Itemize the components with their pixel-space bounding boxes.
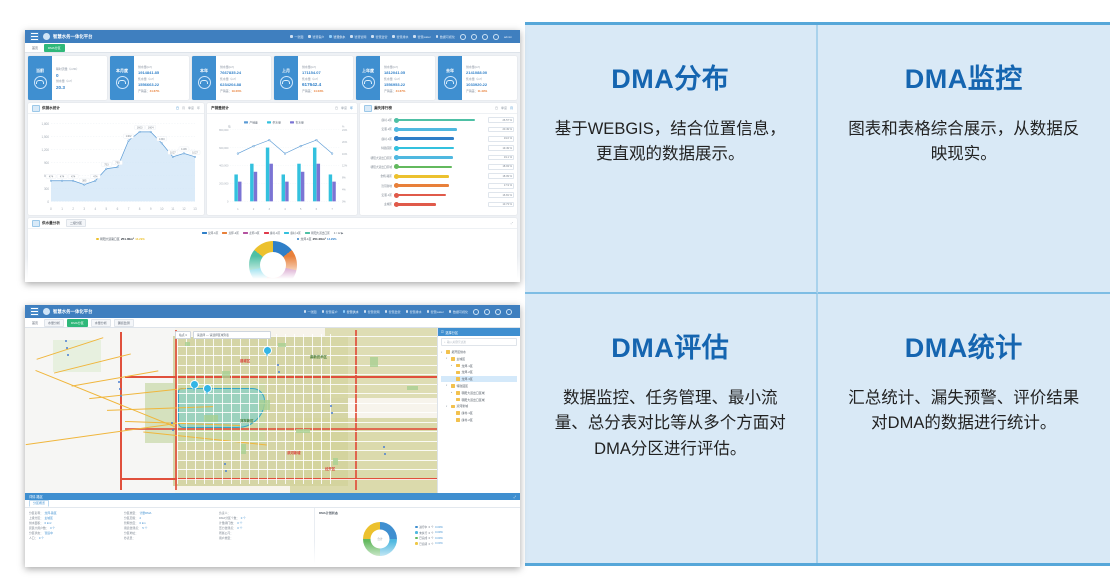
nav-item-智慧water[interactable]: 智慧water (427, 310, 444, 314)
detail-field-grid: 分区名称：龙师-路区分区类型：计量DMA负责人：上级分区：主城区分区层级：2DM… (25, 508, 315, 567)
zone-tree-node[interactable]: 康村-2区 (441, 417, 517, 423)
detail-field-value: 0 个 (241, 516, 246, 520)
leak-bar-fill (394, 156, 453, 159)
leak-bar-fill (394, 203, 436, 206)
legend-label: 进行中 (419, 525, 427, 529)
menu-icon[interactable] (30, 32, 39, 41)
dashboard-appbar: 智慧水务一体化平台 一张图智慧客户智慧供水智慧管网智慧监管智慧排水智慧water… (25, 30, 520, 43)
leak-bar-fill (394, 119, 475, 122)
zone-tree-node[interactable]: ▾滨河新城 (441, 403, 517, 409)
feature-title: DMA分布 (611, 65, 729, 95)
bell-icon[interactable] (471, 34, 477, 40)
leak-bar-knob (394, 174, 399, 179)
legend-swatch (305, 232, 310, 235)
leak-zone-name: 康村-1区 (363, 137, 392, 141)
leak-bar-track (394, 174, 486, 179)
panel-header: 供水量分析 二级分区 ⤢ (28, 218, 517, 229)
leak-value: 19.49 % (488, 145, 514, 151)
callout-dot (297, 238, 299, 240)
leak-value: 18.93 % (488, 164, 514, 170)
leak-rank-row: 康村-1区19.6 % (363, 135, 514, 143)
svg-text:2: 2 (253, 207, 255, 211)
svg-text:474: 474 (93, 174, 98, 178)
svg-text:吨: 吨 (228, 124, 231, 128)
legend-swatch (202, 232, 207, 235)
detail-field-label: 分区地址： (124, 531, 138, 535)
detail-field-label: 用户类型： (219, 536, 233, 540)
panel-leak-ranking: 漏失排行榜 日季度月 康村-2区26.57 %宏服-2区20.49 %康村-1区… (360, 103, 517, 215)
svg-text:9: 9 (150, 207, 152, 211)
svg-text:1603: 1603 (137, 125, 143, 129)
nav-item-智慧客户[interactable]: 智慧客户 (322, 310, 338, 314)
leak-zone-name: 宏服-2区 (363, 127, 392, 131)
detail-field: 上级分区：主城区 (29, 516, 120, 520)
detail-field: 供水面积：0 km² (29, 521, 120, 525)
leak-zone-name: 特勘园区 (363, 146, 392, 150)
legend-swatch (415, 531, 418, 534)
svg-text:1: 1 (237, 207, 239, 211)
fullscreen-icon[interactable] (495, 309, 501, 315)
detail-tabs[interactable]: 分区概览 (25, 500, 520, 508)
leak-bar-knob (394, 164, 399, 169)
zone-tree-node[interactable]: 龙师-2区 (441, 369, 517, 375)
dashboard-tabbar: 首页DMA分区 (25, 43, 520, 53)
svg-text:0: 0 (47, 200, 49, 204)
dma-plan-legend-row: 已完成0 个0.00% (415, 536, 443, 540)
zone-selector[interactable]: 二级分区 (66, 219, 86, 227)
svg-text:5: 5 (300, 207, 302, 211)
callout-percent: 14.29% (135, 237, 145, 241)
svg-text:售水量: 售水量 (296, 120, 304, 125)
kpi-period-label: 本年 (200, 68, 208, 74)
chart-row: 供销水统计 日月季度年 03006009001,2001,5001,800012… (28, 103, 517, 215)
panel-period-tools[interactable]: 日季度月 (495, 106, 513, 110)
nav-item-label: 数据可视化 (440, 35, 455, 39)
svg-text:1,800: 1,800 (42, 122, 50, 126)
kpi-metric-value: 1033920.22 (466, 82, 514, 87)
map-tabbar: 首页水量分析DMA分区水量分析漏损监测 (25, 318, 520, 328)
tab-水量分析[interactable]: 水量分析 (91, 319, 111, 327)
svg-text:5: 5 (106, 207, 108, 211)
leak-value: 18.09 % (488, 173, 514, 179)
leak-value: 26.57 % (488, 117, 514, 123)
zone-tree-node[interactable]: ▾特勘园区 (441, 383, 517, 389)
settings-icon[interactable] (473, 309, 479, 315)
period-toggle-年[interactable]: 年 (350, 106, 353, 110)
zone-tree-node[interactable]: ▾郑开区供水 (441, 349, 517, 355)
leak-bar-knob (394, 193, 399, 198)
nav-item-icon (406, 310, 409, 313)
map-control-select[interactable]: 站点 ▾ (175, 331, 191, 339)
svg-text:1027: 1027 (192, 150, 198, 154)
water-drop-icon (280, 76, 293, 89)
zone-tree-label: 滨河新城 (457, 404, 469, 408)
zone-tree-label: 特勘园区 (457, 384, 469, 388)
callout-value: 251.00m³ (337, 281, 350, 282)
kpi-metric-label: 供水量(m³) (138, 65, 186, 69)
bar-chart: 产销差供水量售水量0200,000400,000600,000800,0000%… (210, 117, 354, 214)
kpi-metric-value: 617642.4 (302, 82, 350, 87)
svg-text:0: 0 (227, 200, 229, 204)
period-toggle-季度[interactable]: 季度 (341, 106, 347, 110)
detail-field-label: 所属公司： (219, 531, 233, 535)
panel-period-tools[interactable]: 日季度年 (335, 106, 353, 110)
chevron-icon[interactable]: ▾ (446, 405, 449, 408)
kpi-values: 供水量(m³)2141088.00售水量（m³）1033920.22产销差：11… (462, 56, 517, 100)
leak-value: 20.49 % (488, 127, 514, 133)
svg-text:16%: 16% (342, 152, 348, 156)
leak-rank-row: 朝阳大道出口区区19.1 % (363, 154, 514, 162)
nav-item-智慧管网[interactable]: 智慧管网 (350, 35, 366, 39)
detail-field-value: 0 个 (237, 521, 242, 525)
folder-icon (451, 357, 456, 361)
dma-plan-status-card: DMA计划状态 合计 进行中0 个0.00%未执行0 个0.00%已完成0 个0… (315, 508, 520, 567)
feature-cell-dma-monitoring[interactable]: DMA监控 图表和表格综合展示，从数据反映现实。 (818, 25, 1110, 294)
leak-bar-track (394, 164, 486, 169)
folder-icon (456, 371, 461, 375)
leak-bar-fill (394, 166, 452, 169)
detail-content: 分区名称：龙师-路区分区类型：计量DMA负责人：上级分区：主城区分区层级：2DM… (25, 508, 520, 567)
panel-title: 供销水统计 (42, 106, 60, 111)
leak-rank-row: 滨河新地17.9 % (363, 182, 514, 190)
svg-text:6: 6 (117, 207, 119, 211)
map-nav: 一张图智慧客户智慧供水智慧管网智慧监管智慧排水智慧water数据可视化 (304, 309, 515, 315)
leak-bar-fill (394, 137, 454, 140)
svg-text:200,000: 200,000 (219, 182, 229, 186)
panel-actions[interactable]: ⤢ (511, 221, 513, 225)
nav-item-label: 智慧排水 (410, 310, 422, 314)
svg-text:1027: 1027 (170, 150, 176, 154)
fullscreen-icon[interactable] (482, 34, 488, 40)
nav-item-label: 智慧供水 (347, 310, 359, 314)
nav-item-icon (322, 310, 325, 313)
zone-tree-label: 康村-2区 (462, 418, 473, 422)
detail-field: 分区类型：计量DMA (124, 511, 215, 515)
map-control-select[interactable]: 请选择 — 请选择区域列表 (193, 331, 271, 339)
period-toggle-月[interactable]: 月 (182, 106, 185, 110)
feature-description: 基于WEBGIS，结合位置信息，更直观的数据展示。 (551, 117, 790, 168)
svg-text:8%: 8% (342, 176, 346, 180)
water-drop-icon (198, 76, 211, 89)
kpi-period-label: 本月度 (116, 68, 128, 74)
leak-bar-knob (394, 118, 399, 123)
nav-item-icon (427, 310, 430, 313)
svg-text:1106: 1106 (181, 147, 187, 151)
period-toggle-日[interactable]: 日 (176, 106, 179, 110)
nav-item-数据可视化[interactable]: 数据可视化 (436, 35, 455, 39)
nav-item-icon (436, 35, 439, 38)
kpi-metric-value: 6234204.88 (220, 82, 268, 87)
expand-icon[interactable]: ⤢ (513, 495, 516, 499)
nav-item-label: 一张图 (308, 310, 317, 314)
tab-漏损监测[interactable]: 漏损监测 (114, 319, 134, 327)
flow-callout: 龙师-3区251.00m³14.29% (321, 281, 361, 282)
nav-item-智慧监管[interactable]: 智慧监管 (385, 310, 401, 314)
kpi-values: 瞬时流量（m³/h）0供水量（m³）20.3 (52, 56, 107, 100)
svg-text:1340: 1340 (159, 137, 165, 141)
nav-item-智慧排水[interactable]: 智慧排水 (406, 310, 422, 314)
folder-icon (456, 418, 461, 422)
panel-period-tools[interactable]: 日月季度年 (176, 106, 200, 110)
svg-text:474: 474 (71, 174, 76, 178)
zone-tree-node[interactable]: 朝阳大道出口区域 (441, 397, 517, 403)
feature-title: DMA监控 (905, 65, 1023, 95)
map-pin-icon[interactable] (190, 380, 199, 391)
legend-label: 未执行 (419, 531, 427, 535)
nav-item-智慧供水[interactable]: 智慧供水 (343, 310, 359, 314)
detail-field-value: 龙师-路区 (45, 511, 57, 515)
svg-text:385: 385 (82, 178, 87, 182)
leak-bar-track (394, 136, 486, 141)
legend-label: 已逾期 (419, 542, 427, 546)
leak-rank-row: 朝阳大道出口区域18.93 % (363, 163, 514, 171)
detail-field: 抄表员： (124, 536, 215, 540)
detail-field-value: 0 个 (50, 526, 55, 530)
avatar[interactable] (493, 34, 499, 40)
period-toggle-日[interactable]: 日 (335, 106, 338, 110)
kpi-rate: 产销差：44.67% (384, 89, 432, 93)
map-screenshot: 智慧水务一体化平台 一张图智慧客户智慧供水智慧管网智慧监管智慧排水智慧water… (25, 305, 520, 567)
kpi-period-badge: 上月 (274, 56, 298, 100)
water-drop-icon (34, 76, 47, 89)
map-area-label: 经开区 (325, 466, 335, 471)
nav-item-icon (449, 310, 452, 313)
kpi-row: 当前瞬时流量（m³/h）0供水量（m³）20.3本月度供水量(m³)191484… (28, 56, 517, 100)
nav-item-智慧监管[interactable]: 智慧监管 (371, 35, 387, 39)
bell-icon[interactable] (484, 309, 490, 315)
kpi-period-badge: 本年 (192, 56, 216, 100)
leak-bar-knob (394, 183, 399, 188)
folder-icon (456, 377, 461, 381)
callout-percent: 14.29% (351, 281, 361, 282)
nav-item-智慧water[interactable]: 智慧water (413, 35, 430, 39)
leak-value: 16.81 % (488, 192, 514, 198)
detail-field-value: 2 (140, 516, 142, 520)
svg-text:4%: 4% (342, 188, 346, 192)
legend-percent: 0.00% (435, 526, 443, 529)
zone-tree-node[interactable]: ▸朝阳大道出口区域 (441, 390, 517, 396)
zone-tree-panel: ☑ 选择分区 ⌕ 输入关键字过滤 ▾郑开区供水▾主城区▸龙师-1区龙师-2区龙师… (437, 328, 520, 493)
kpi-metric-value: 20.3 (56, 85, 104, 90)
panel-title: 供水量分析 (42, 221, 60, 226)
nav-item-数据可视化[interactable]: 数据可视化 (449, 310, 468, 314)
legend-swatch (222, 232, 227, 235)
chevron-icon[interactable]: ▾ (446, 357, 449, 360)
leak-bar-track (394, 155, 486, 160)
flow-callout: 朝阳大道出口区区251.00m³14.29% (57, 281, 108, 282)
nav-item-icon (392, 35, 395, 38)
tab-zone-overview[interactable]: 分区概览 (29, 500, 49, 507)
detail-field-label: 人口： (29, 536, 37, 540)
tab-DMA分区[interactable]: DMA分区 (67, 319, 88, 327)
kpi-card: 本月度供水量(m³)1914841.85售水量（m³）1556663.22产销差… (110, 56, 189, 100)
kpi-metric-label: 供水量（m³） (56, 79, 104, 83)
svg-text:4: 4 (94, 207, 96, 211)
tab-DMA分区[interactable]: DMA分区 (44, 44, 65, 52)
nav-item-label: 一张图 (294, 35, 303, 39)
feature-cell-dma-assessment[interactable]: DMA评估 数据监控、任务管理、最小流量、总分表对比等从多个方面对DMA分区进行… (525, 294, 818, 563)
feature-title: DMA统计 (905, 334, 1023, 364)
kpi-metric-value: 0 (56, 73, 104, 78)
leak-bar-track (394, 193, 486, 198)
map-pin-icon[interactable] (203, 384, 212, 395)
svg-text:790: 790 (115, 161, 120, 165)
zone-tree-node[interactable]: ▸龙师-1区 (441, 363, 517, 369)
flow-donut-chart (249, 241, 297, 282)
checkbox-icon[interactable]: ☑ (441, 330, 444, 334)
kpi-metric-label: 售水量（m³） (220, 77, 268, 81)
chart-icon (32, 220, 40, 227)
legend-count: 0 个 (429, 542, 434, 546)
leak-zone-name: 金帆-路区 (363, 174, 392, 178)
map-area-label: 郑东新区 (240, 418, 254, 423)
period-toggle-年[interactable]: 年 (197, 106, 200, 110)
map-appbar: 智慧水务一体化平台 一张图智慧客户智慧供水智慧管网智慧监管智慧排水智慧water… (25, 305, 520, 318)
kpi-period-badge: 上年度 (356, 56, 380, 100)
period-toggle-季度[interactable]: 季度 (501, 106, 507, 110)
dma-plan-legend-row: 未执行0 个0.00% (415, 531, 443, 535)
feature-cell-dma-statistics[interactable]: DMA统计 汇总统计、漏失预警、评价结果对DMA的数据进行统计。 (818, 294, 1110, 563)
detail-field-label: 压力监测点： (219, 526, 236, 530)
leak-value: 19.6 % (488, 136, 514, 142)
leak-zone-name: 朝阳大道出口区区 (363, 156, 392, 160)
svg-text:产销差: 产销差 (250, 120, 258, 125)
chevron-icon[interactable]: ▸ (451, 364, 454, 367)
kpi-card: 当前瞬时流量（m³/h）0供水量（m³）20.3 (28, 56, 107, 100)
water-drop-icon (362, 76, 375, 89)
legend-swatch (264, 232, 269, 235)
leak-bar-list: 康村-2区26.57 %宏服-2区20.49 %康村-1区19.6 %特勘园区1… (360, 114, 517, 211)
detail-drawer: 详情-路区 ⤢ 分区概览 分区名称：龙师-路区分区类型：计量DMA负责人：上级分… (25, 493, 520, 567)
zone-tree-label: 龙师-1区 (462, 364, 473, 368)
kpi-rate: 产销差：19.00% (220, 89, 268, 93)
zone-tree-header: ☑ 选择分区 (438, 328, 520, 336)
kpi-metric-label: 售水量（m³） (384, 77, 432, 81)
folder-icon (456, 411, 461, 415)
chevron-icon[interactable]: ▾ (446, 384, 449, 387)
svg-text:供水量: 供水量 (273, 120, 281, 125)
detail-field-value: 暂运中 (45, 531, 53, 535)
period-toggle-日[interactable]: 日 (495, 106, 498, 110)
settings-icon[interactable] (460, 34, 466, 40)
leak-value: 19.1 % (488, 155, 514, 161)
app-title: 智慧水务一体化平台 (53, 309, 93, 315)
kpi-rate: 产销差：11.49% (466, 89, 514, 93)
nav-item-label: 智慧water (417, 35, 430, 39)
leak-zone-name: 主城区 (363, 202, 392, 206)
panel-title: 产销差统计 (211, 106, 229, 111)
nav-item-智慧客户[interactable]: 智慧客户 (308, 35, 324, 39)
nav-item-icon (290, 35, 293, 38)
nav-item-icon (304, 310, 307, 313)
map-pin-icon[interactable] (263, 346, 272, 357)
brand-logo-icon (43, 308, 50, 315)
user-name[interactable]: admin (504, 35, 512, 39)
zone-tree-node[interactable]: 康村-1区 (441, 410, 517, 416)
kpi-period-label: 上年度 (362, 68, 374, 74)
panel-body: 产销差供水量售水量0200,000400,000600,000800,0000%… (207, 114, 357, 215)
zone-tree-label: 康村-1区 (462, 411, 473, 415)
detail-field-label: 分区类型： (124, 511, 138, 515)
zone-tree-search[interactable]: ⌕ 输入关键字过滤 (441, 338, 517, 346)
leak-zone-name: 宏服-1区 (363, 193, 392, 197)
nav-item-label: 智慧管网 (368, 310, 380, 314)
kpi-metric-label: 供水量(m³) (384, 65, 432, 69)
leak-bar-track (394, 202, 486, 207)
detail-field-label: 分区名称： (29, 511, 43, 515)
leak-rank-row: 特勘园区19.49 % (363, 144, 514, 152)
nav-item-一张图[interactable]: 一张图 (290, 35, 303, 39)
svg-text:1,500: 1,500 (42, 135, 50, 139)
tab-水量分析[interactable]: 水量分析 (44, 319, 64, 327)
area-chart: 03006009001,2001,5001,800012345678910111… (31, 117, 201, 214)
kpi-metric-value: 1812041.05 (384, 70, 432, 75)
kpi-card: 上年度供水量(m³)1812041.05售水量（m³）1556953.22产销差… (356, 56, 435, 100)
leak-bar-knob (394, 127, 399, 132)
leak-rank-row: 宏服-1区16.81 % (363, 191, 514, 199)
legend-swatch (243, 232, 248, 235)
page-root: DMA分布 基于WEBGIS，结合位置信息，更直观的数据展示。 DMA监控 图表… (0, 0, 1110, 588)
donut-center-label: 合计 (377, 537, 382, 541)
dma-plan-legend: 进行中0 个0.00%未执行0 个0.00%已完成0 个0.00%已逾期0 个0… (415, 525, 443, 546)
folder-icon (451, 405, 456, 409)
svg-text:1402: 1402 (126, 134, 132, 138)
callout-name: 朝阳大道出口区区 (61, 281, 83, 282)
nav-item-一张图[interactable]: 一张图 (304, 310, 317, 314)
avatar[interactable] (506, 309, 512, 315)
app-title: 智慧水务一体化平台 (53, 34, 93, 40)
leak-rank-row: 金帆-路区18.09 % (363, 172, 514, 180)
leak-value: 13.73 % (488, 202, 514, 208)
tab-首页[interactable]: 首页 (29, 320, 41, 326)
detail-field: DMA分区个数：0 个 (219, 516, 310, 520)
chevron-icon[interactable]: ▸ (451, 391, 454, 394)
leak-rank-row: 主城区13.73 % (363, 200, 514, 208)
feature-description: 汇总统计、漏失预警、评价结果对DMA的数据进行统计。 (844, 386, 1085, 437)
menu-icon[interactable] (30, 307, 39, 316)
zone-tree-node[interactable]: 龙师-3区 (441, 376, 517, 382)
map-canvas[interactable]: 建城区高新技术区郑东新区滨河新城经开区 站点 ▾请选择 — 请选择区域列表 ☑ … (25, 328, 520, 493)
leak-rank-row: 宏服-2区20.49 % (363, 125, 514, 133)
zone-tree-node[interactable]: ▾主城区 (441, 356, 517, 362)
period-toggle-月[interactable]: 月 (510, 106, 513, 110)
chevron-icon[interactable]: ▾ (441, 351, 444, 354)
nav-item-label: 智慧排水 (396, 35, 408, 39)
leak-bar-fill (394, 194, 446, 197)
nav-item-智慧管网[interactable]: 智慧管网 (364, 310, 380, 314)
zone-tree-title: 选择分区 (445, 330, 458, 335)
map-area-label: 高新技术区 (310, 354, 327, 359)
nav-item-智慧供水[interactable]: 智慧供水 (329, 35, 345, 39)
detail-field: 分区地址： (124, 531, 215, 535)
map-search-bar[interactable]: 站点 ▾请选择 — 请选择区域列表 (175, 331, 271, 339)
svg-text:900: 900 (44, 161, 49, 165)
detail-field: 管网长度：0 km (124, 521, 215, 525)
nav-item-icon (350, 35, 353, 38)
period-toggle-季度[interactable]: 季度 (188, 106, 194, 110)
tab-首页[interactable]: 首页 (29, 45, 41, 51)
expand-icon[interactable]: ⤢ (511, 221, 513, 225)
callout-name: 龙师-3区 (325, 281, 336, 282)
kpi-period-badge: 去年 (438, 56, 462, 100)
nav-item-智慧排水[interactable]: 智慧排水 (392, 35, 408, 39)
kpi-metric-value: 1556953.22 (384, 82, 432, 87)
svg-text:13: 13 (193, 207, 197, 211)
flow-callout: 龙师-1区251.00m³14.29% (297, 237, 337, 241)
nav-item-icon (364, 310, 367, 313)
detail-field-label: 分区状态： (29, 531, 43, 535)
feature-cell-dma-distribution[interactable]: DMA分布 基于WEBGIS，结合位置信息，更直观的数据展示。 (525, 25, 818, 294)
